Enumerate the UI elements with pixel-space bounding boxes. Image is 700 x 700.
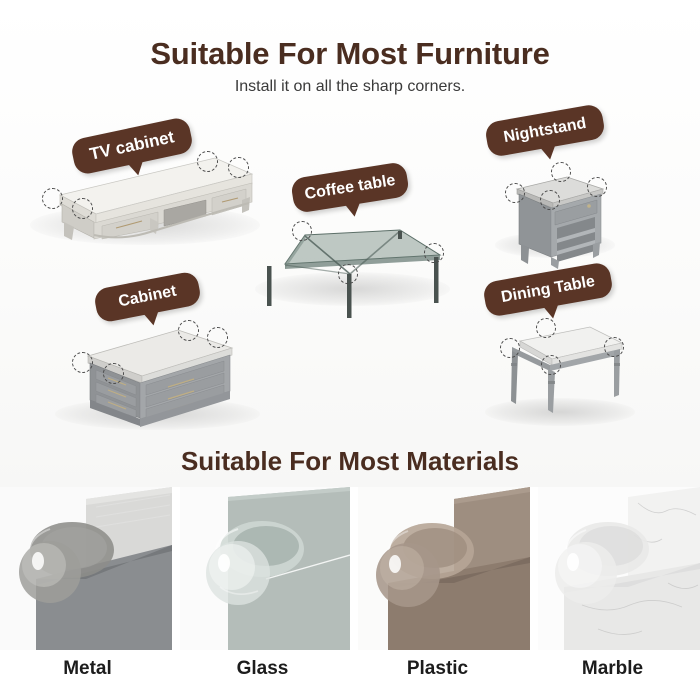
corner-marker [424,243,444,263]
corner-marker [587,177,607,197]
page-title: Suitable For Most Furniture [0,36,700,72]
label-text: Cabinet [117,283,178,312]
cabinet-illustration [60,318,260,428]
corner-marker [207,327,228,348]
product-infographic: Suitable For Most Furniture Install it o… [0,0,700,700]
corner-marker [103,363,124,384]
corner-marker [72,198,93,219]
material-panel-glass [180,487,350,650]
label-text: Coffee table [303,171,396,203]
label-text: Dining Table [500,272,596,306]
corner-marker [72,352,93,373]
corner-marker [42,188,63,209]
corner-marker [536,318,556,338]
corner-marker [197,151,218,172]
material-panel-metal [0,487,172,650]
material-panel-plastic [358,487,530,650]
label-text: Nightstand [502,114,587,146]
corner-marker [292,221,312,241]
corner-marker [604,337,624,357]
label-cabinet: Cabinet [93,270,203,323]
corner-marker [178,320,199,341]
corner-marker [540,190,560,210]
materials-section: Metal Glass Plastic Marble [0,487,700,700]
corner-marker [500,338,520,358]
furniture-section: Suitable For Most Furniture Install it o… [0,0,700,487]
page-subtitle: Install it on all the sharp corners. [0,78,700,96]
label-nightstand: Nightstand [484,103,606,158]
corner-marker [551,162,571,182]
materials-title: Suitable For Most Materials [0,446,700,477]
corner-marker [338,264,358,284]
material-label-plastic: Plastic [350,658,525,680]
material-label-glass: Glass [175,658,350,680]
material-panels [0,487,700,650]
material-label-metal: Metal [0,658,175,680]
material-panel-marble [538,487,700,650]
label-coffee-table: Coffee table [290,161,410,214]
corner-marker [228,157,249,178]
material-labels: Metal Glass Plastic Marble [0,650,700,700]
corner-marker [505,183,525,203]
material-label-marble: Marble [525,658,700,680]
corner-marker [541,355,561,375]
